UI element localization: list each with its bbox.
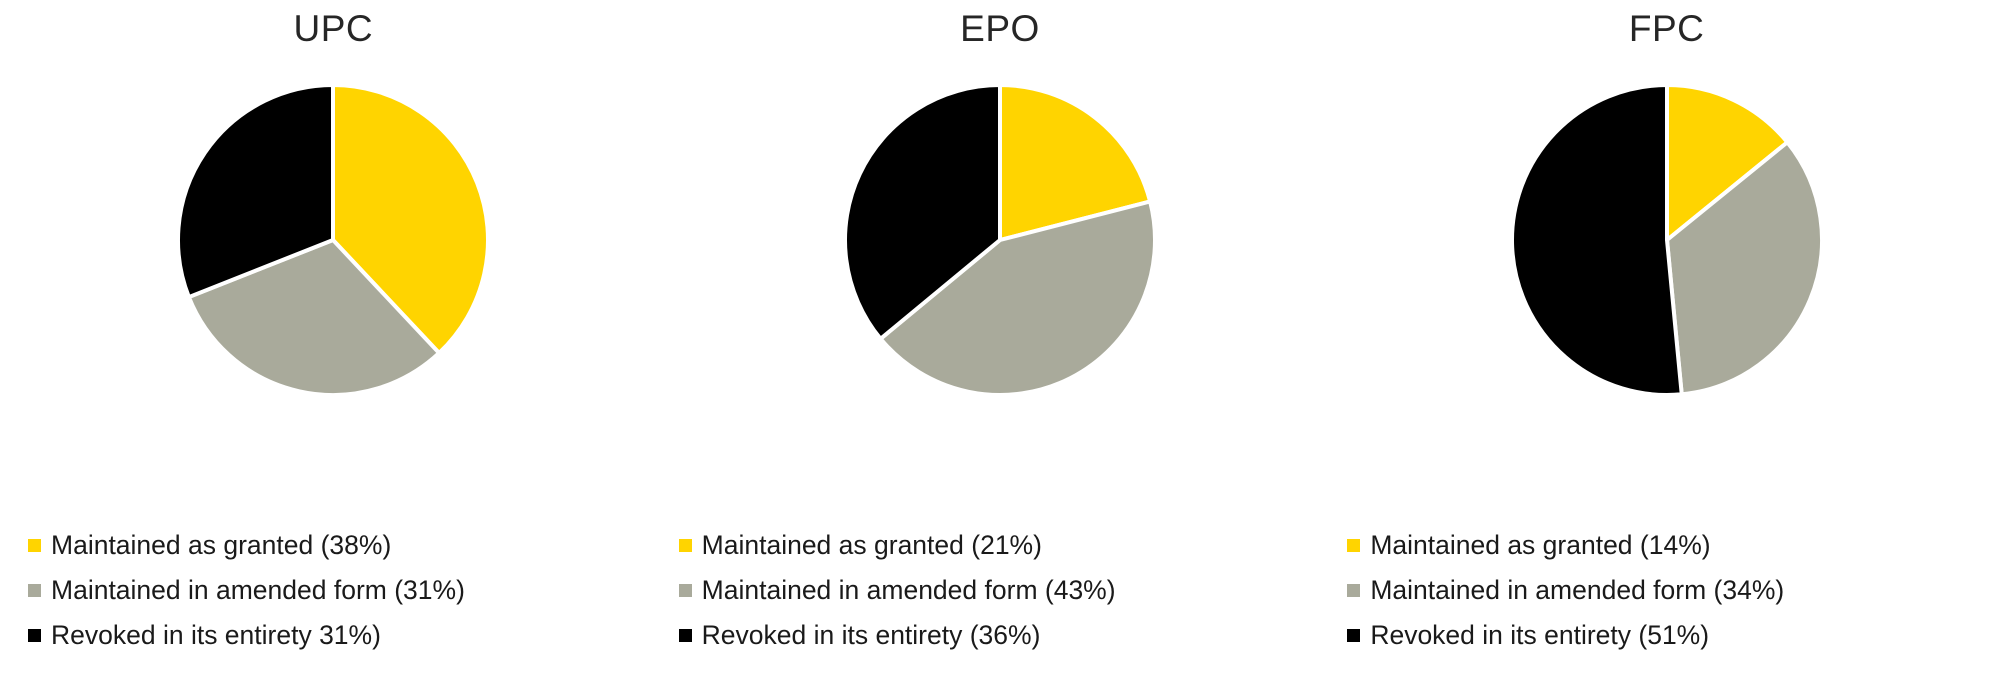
pie-slices-upc [178,85,488,395]
legend-item-revoked-in-its-entirety[interactable]: Revoked in its entirety (36%) [679,612,1299,657]
legend-square-icon [28,539,41,552]
legend-item-label: Maintained in amended form (34%) [1370,574,1784,606]
legend-item-maintained-as-granted[interactable]: Maintained as granted (38%) [28,522,648,567]
pie-svg-fpc [1497,80,1837,400]
legend-item-label: Maintained as granted (38%) [51,529,391,561]
legend-item-label: Revoked in its entirety (36%) [702,619,1041,651]
legend-square-icon [1347,629,1360,642]
legend-item-revoked-in-its-entirety[interactable]: Revoked in its entirety 31%) [28,612,648,657]
chart-panel-fpc: FPC Maintained as granted (14%) Maintain… [1333,0,2000,684]
legend-square-icon [679,584,692,597]
pie-slices-fpc [1512,85,1822,395]
legend-item-label: Maintained as granted (14%) [1370,529,1710,561]
pie-chart-upc [0,80,667,400]
legend-item-maintained-as-granted[interactable]: Maintained as granted (14%) [1347,522,1967,567]
pie-slices-epo [845,85,1155,395]
chart-panel-epo: EPO Maintained as granted (21%) Maintain… [667,0,1334,684]
legend-item-maintained-in-amended-form[interactable]: Maintained in amended form (43%) [679,567,1299,612]
legend-item-label: Maintained as granted (21%) [702,529,1042,561]
legend-fpc: Maintained as granted (14%) Maintained i… [1333,522,2000,672]
pie-chart-fpc [1333,80,2000,400]
legend-square-icon [1347,584,1360,597]
legend-item-label: Maintained in amended form (31%) [51,574,465,606]
pie-chart-epo [667,80,1334,400]
legend-item-maintained-in-amended-form[interactable]: Maintained in amended form (31%) [28,567,648,612]
legend-square-icon [679,629,692,642]
legend-item-maintained-in-amended-form[interactable]: Maintained in amended form (34%) [1347,567,1967,612]
legend-item-label: Revoked in its entirety (51%) [1370,619,1709,651]
pie-chart-panels: UPC Maintained as granted (38%) Maintain… [0,0,2000,684]
pie-slice[interactable] [1512,85,1682,395]
legend-item-revoked-in-its-entirety[interactable]: Revoked in its entirety (51%) [1347,612,1967,657]
legend-square-icon [28,629,41,642]
pie-svg-upc [163,80,503,400]
legend-square-icon [679,539,692,552]
legend-item-label: Maintained in amended form (43%) [702,574,1116,606]
legend-square-icon [28,584,41,597]
legend-square-icon [1347,539,1360,552]
chart-panel-upc: UPC Maintained as granted (38%) Maintain… [0,0,667,684]
page-title-fpc: FPC [1333,6,2000,52]
legend-epo: Maintained as granted (21%) Maintained i… [667,522,1334,672]
pie-svg-epo [830,80,1170,400]
legend-upc: Maintained as granted (38%) Maintained i… [0,522,667,672]
page-title-upc: UPC [0,6,667,52]
legend-item-label: Revoked in its entirety 31%) [51,619,381,651]
legend-item-maintained-as-granted[interactable]: Maintained as granted (21%) [679,522,1299,567]
page-title-epo: EPO [667,6,1334,52]
